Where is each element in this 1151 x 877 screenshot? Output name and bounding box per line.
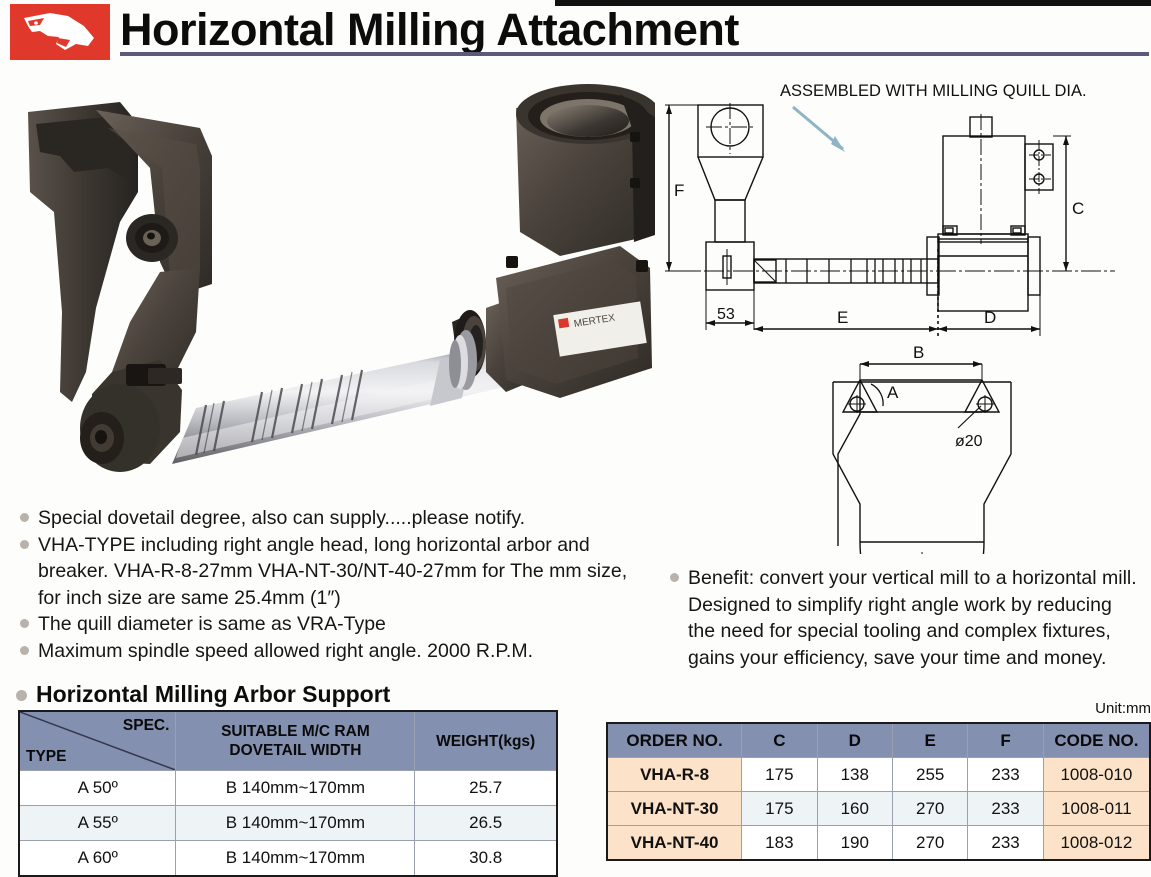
cell-weight: 26.5	[415, 806, 557, 841]
col-header-d: D	[817, 723, 892, 758]
col-header-f: F	[968, 723, 1043, 758]
cell-e: 255	[892, 758, 967, 792]
cell-d: 190	[817, 826, 892, 861]
benefit-bullet-list: Benefit: convert your vertical mill to a…	[668, 565, 1138, 671]
col-header-c: C	[742, 723, 817, 758]
table-row: VHA-NT-40 183 190 270 233 1008-012	[607, 826, 1150, 861]
cell-code-no: 1008-010	[1043, 758, 1150, 792]
col-header-order-no: ORDER NO.	[607, 723, 742, 758]
table-row: VHA-R-8 175 138 255 233 1008-010	[607, 758, 1150, 792]
dimension-B: B	[913, 343, 924, 362]
corner-type-label: TYPE	[26, 747, 66, 766]
arbor-support-table: SPEC. TYPE SUITABLE M/C RAM DOVETAIL WID…	[18, 710, 558, 877]
cell-c: 175	[742, 792, 817, 826]
dimension-E: E	[837, 308, 848, 327]
cell-f: 233	[968, 792, 1043, 826]
col-header-weight: WEIGHT(kgs)	[415, 711, 557, 771]
technical-drawing: ASSEMBLED WITH MILLING QUILL DIA.	[655, 74, 1151, 554]
table-header-row: ORDER NO. C D E F CODE NO.	[607, 723, 1150, 758]
unit-label: Unit:mm	[606, 700, 1151, 717]
cell-code-no: 1008-012	[1043, 826, 1150, 861]
table-header-row: SPEC. TYPE SUITABLE M/C RAM DOVETAIL WID…	[19, 711, 557, 771]
cell-type: A 50º	[19, 771, 176, 806]
cell-weight: 25.7	[415, 771, 557, 806]
table-row: VHA-NT-30 175 160 270 233 1008-011	[607, 792, 1150, 826]
hole-dia-label: ø20	[955, 433, 983, 450]
cell-e: 270	[892, 792, 967, 826]
table-row: A 60º B 140mm~170mm 30.8	[19, 841, 557, 877]
cell-d: 138	[817, 758, 892, 792]
col-header-line1: SUITABLE M/C RAM	[177, 722, 413, 741]
dimension-53: 53	[717, 306, 735, 323]
eagle-head-logo	[10, 4, 110, 60]
cell-width: B 140mm~170mm	[176, 771, 415, 806]
dimension-D: D	[984, 308, 996, 327]
cell-c: 175	[742, 758, 817, 792]
spec-type-corner-cell: SPEC. TYPE	[19, 711, 176, 771]
cell-type: A 55º	[19, 806, 176, 841]
list-item: Special dovetail degree, also can supply…	[18, 505, 628, 532]
order-table: ORDER NO. C D E F CODE NO. VHA-R-8 175 1…	[606, 722, 1151, 861]
table-row: A 55º B 140mm~170mm 26.5	[19, 806, 557, 841]
title-underline-rule	[120, 52, 1149, 56]
cell-width: B 140mm~170mm	[176, 841, 415, 877]
table-row: A 50º B 140mm~170mm 25.7	[19, 771, 557, 806]
catalog-page: Horizontal Milling Attachment	[0, 0, 1151, 870]
page-title: Horizontal Milling Attachment	[120, 2, 739, 58]
list-item: VHA-TYPE including right angle head, lon…	[18, 532, 628, 612]
product-photo: MERTEX	[0, 72, 660, 508]
cell-c: 183	[742, 826, 817, 861]
cell-order-no: VHA-NT-30	[607, 792, 742, 826]
list-item: Maximum spindle speed allowed right angl…	[18, 638, 628, 665]
drawing-callout-text: ASSEMBLED WITH MILLING QUILL DIA.	[780, 82, 1087, 100]
cell-e: 270	[892, 826, 967, 861]
dimension-F: F	[674, 181, 684, 200]
cell-weight: 30.8	[415, 841, 557, 877]
list-item: Benefit: convert your vertical mill to a…	[668, 565, 1138, 671]
dimension-C: C	[1072, 199, 1084, 218]
order-table-block: Unit:mm ORDER NO. C D E F CODE NO. VHA-R…	[606, 700, 1151, 861]
cell-width: B 140mm~170mm	[176, 806, 415, 841]
col-header-dovetail-width: SUITABLE M/C RAM DOVETAIL WIDTH	[176, 711, 415, 771]
cell-f: 233	[968, 826, 1043, 861]
cell-order-no: VHA-R-8	[607, 758, 742, 792]
dimension-A: A	[887, 383, 899, 402]
corner-spec-label: SPEC.	[123, 716, 170, 735]
feature-bullet-list: Special dovetail degree, also can supply…	[18, 505, 628, 664]
cell-order-no: VHA-NT-40	[607, 826, 742, 861]
col-header-code-no: CODE NO.	[1043, 723, 1150, 758]
cell-code-no: 1008-011	[1043, 792, 1150, 826]
cell-type: A 60º	[19, 841, 176, 877]
arbor-support-heading: Horizontal Milling Arbor Support	[16, 681, 390, 708]
cell-f: 233	[968, 758, 1043, 792]
col-header-line2: DOVETAIL WIDTH	[177, 741, 413, 760]
cell-d: 160	[817, 792, 892, 826]
list-item: The quill diameter is same as VRA-Type	[18, 611, 628, 638]
col-header-e: E	[892, 723, 967, 758]
